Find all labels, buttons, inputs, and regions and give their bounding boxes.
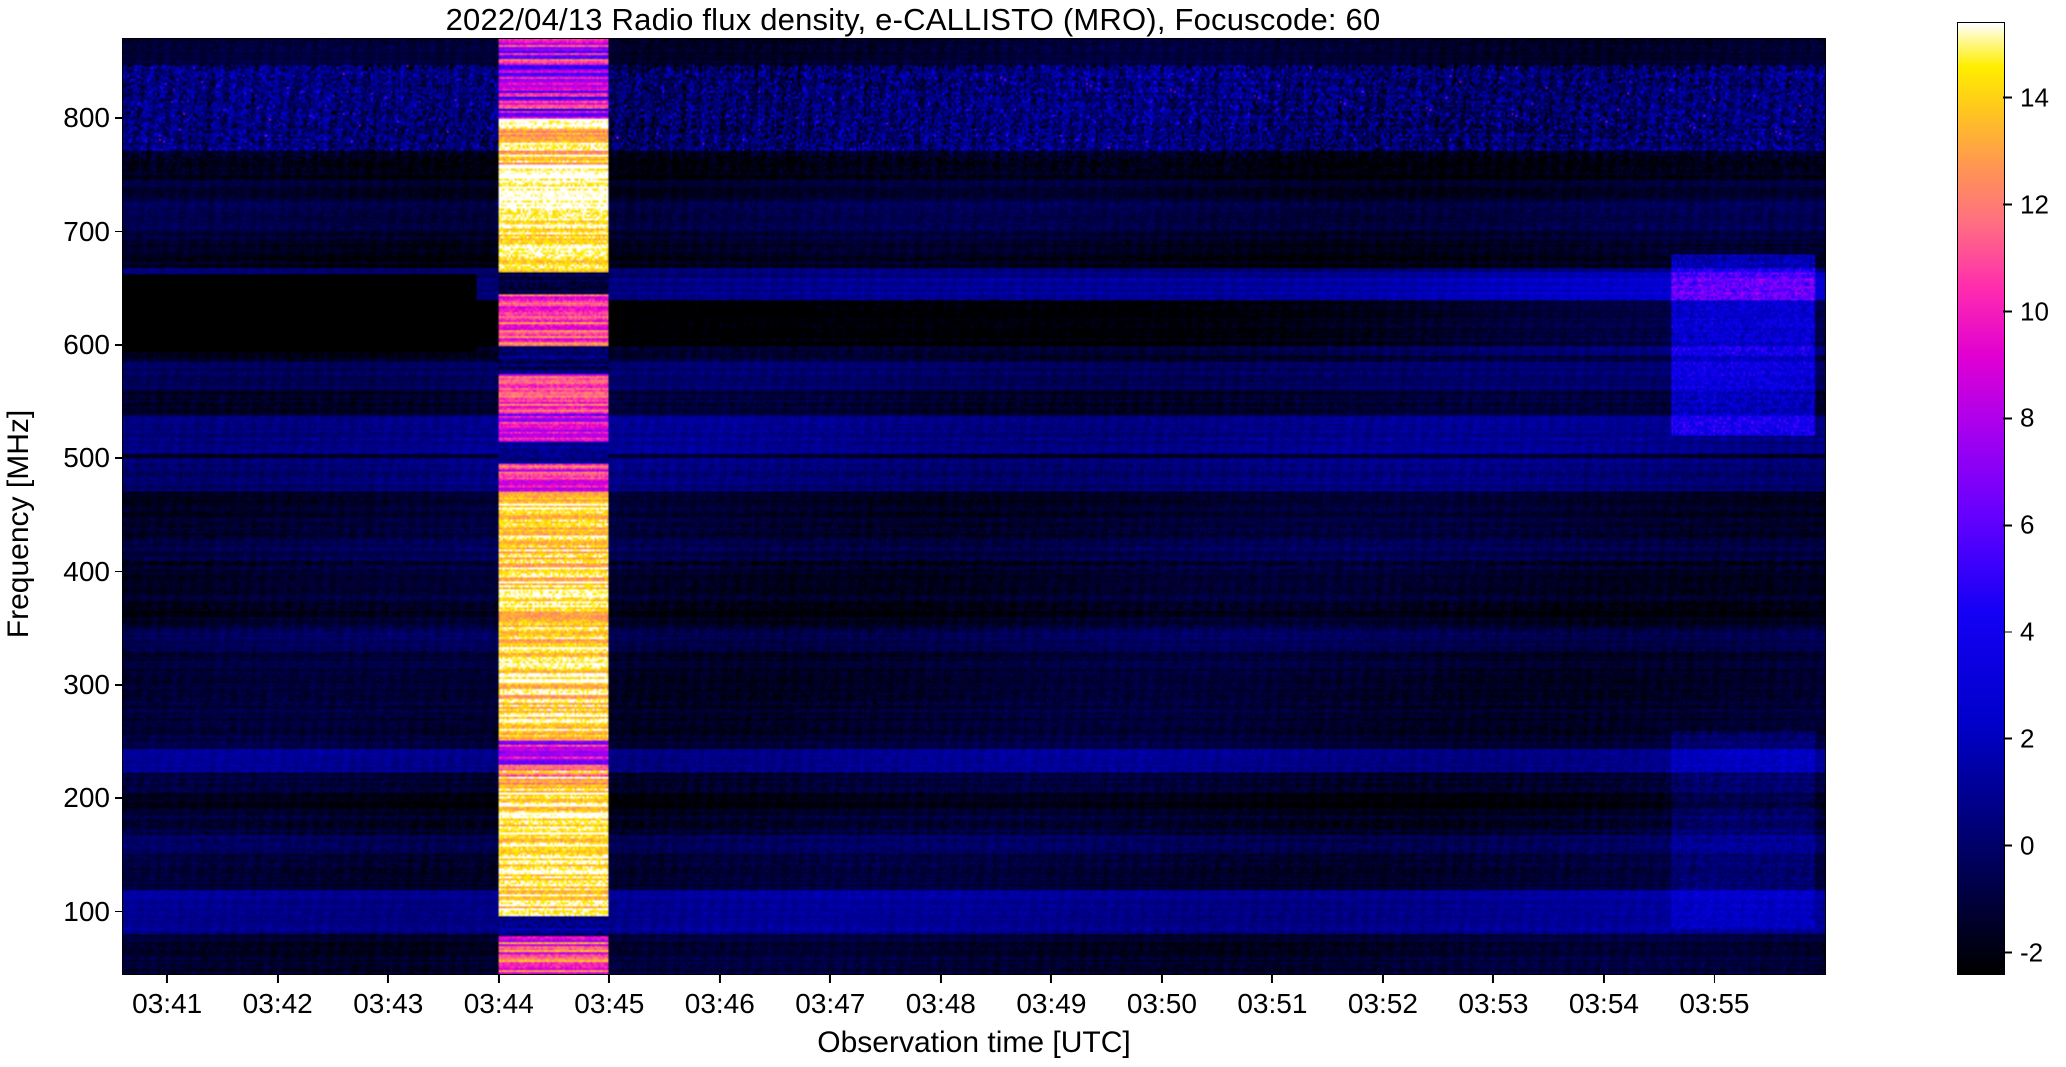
colorbar-tick: 10 [2004, 296, 2049, 327]
x-axis-tick: 03:41 [132, 974, 202, 1020]
x-axis-tick: 03:47 [795, 974, 865, 1020]
y-axis-tick: 700 [63, 216, 123, 248]
x-axis-label: Observation time [UTC] [123, 1026, 1825, 1060]
colorbar-gradient [1958, 23, 2004, 974]
colorbar-tick: -2 [2004, 937, 2043, 968]
colorbar-tick: 0 [2004, 830, 2034, 861]
y-axis-tick: 200 [63, 782, 123, 814]
colorbar[interactable]: -202468101214 dB above background [1957, 22, 2005, 975]
y-axis-tick: 300 [63, 669, 123, 701]
spectrogram-canvas [123, 39, 1825, 974]
x-axis-tick: 03:51 [1237, 974, 1307, 1020]
x-axis-tick: 03:52 [1348, 974, 1418, 1020]
y-axis-tick: 400 [63, 556, 123, 588]
x-axis-tick: 03:49 [1016, 974, 1086, 1020]
x-axis-tick: 03:42 [243, 974, 313, 1020]
colorbar-tick: 8 [2004, 403, 2034, 434]
x-axis-tick: 03:45 [574, 974, 644, 1020]
colorbar-tick: 12 [2004, 189, 2049, 220]
x-axis-tick: 03:53 [1458, 974, 1528, 1020]
y-axis-tick: 100 [63, 896, 123, 928]
x-axis-tick: 03:43 [353, 974, 423, 1020]
x-axis-tick: 03:54 [1569, 974, 1639, 1020]
colorbar-tick: 14 [2004, 82, 2049, 113]
y-axis-tick: 500 [63, 442, 123, 474]
x-axis-tick: 03:46 [685, 974, 755, 1020]
y-axis-label: Frequency [MHz] [2, 274, 36, 774]
colorbar-tick: 4 [2004, 617, 2034, 648]
colorbar-tick: 6 [2004, 510, 2034, 541]
x-axis-tick: 03:44 [464, 974, 534, 1020]
x-axis-tick: 03:50 [1127, 974, 1197, 1020]
spectrogram-plot-area[interactable]: 100200300400500600700800 03:4103:4203:43… [122, 38, 1826, 975]
x-axis-tick: 03:48 [906, 974, 976, 1020]
colorbar-tick: 2 [2004, 723, 2034, 754]
y-axis-tick: 600 [63, 329, 123, 361]
y-axis-tick: 800 [63, 102, 123, 134]
x-axis-tick: 03:55 [1679, 974, 1749, 1020]
page-title: 2022/04/13 Radio flux density, e-CALLIST… [0, 2, 1826, 38]
